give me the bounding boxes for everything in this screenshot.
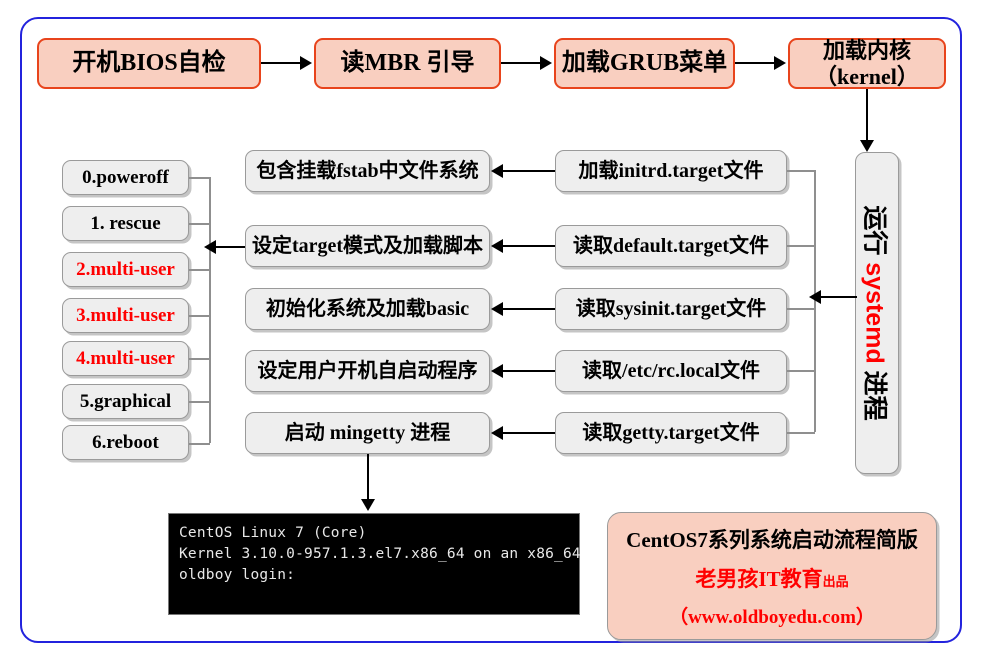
arrow-rclocal-to-autostart-line bbox=[503, 370, 555, 372]
terminal-line-1: CentOS Linux 7 (Core) bbox=[179, 523, 579, 544]
legend-title: CentOS7系列系统启动流程简版 bbox=[626, 524, 918, 554]
target-read-default[interactable]: 读取default.target文件 bbox=[555, 225, 787, 267]
arrow-grub-to-kernel-head bbox=[774, 56, 786, 70]
runlevel-6-reboot[interactable]: 6.reboot bbox=[62, 425, 189, 460]
systemd-highlight: systemd bbox=[861, 262, 889, 363]
action-set-target-mode[interactable]: 设定target模式及加载脚本 bbox=[245, 225, 490, 267]
arrow-target-to-runlevels-head bbox=[204, 240, 216, 254]
boot-step-mbr[interactable]: 读MBR 引导 bbox=[314, 38, 501, 89]
target-read-rclocal[interactable]: 读取/etc/rc.local文件 bbox=[555, 350, 787, 392]
legend-website: （www.oldboyedu.com） bbox=[669, 602, 875, 629]
arrow-sysinit-to-basic-head bbox=[491, 302, 503, 316]
arrow-systemd-to-targets-line bbox=[821, 296, 857, 298]
target-load-initrd[interactable]: 加载initrd.target文件 bbox=[555, 150, 787, 192]
runlevel-1-rescue[interactable]: 1. rescue bbox=[62, 206, 189, 241]
runlevel-4-multi-user[interactable]: 4.multi-user bbox=[62, 341, 189, 376]
systemd-process-box[interactable]: 运行 systemd 进程 bbox=[855, 152, 899, 474]
arrow-initrd-to-fstab-head bbox=[491, 164, 503, 178]
arrow-default-to-target-line bbox=[503, 245, 555, 247]
runlevel-stub-6 bbox=[189, 443, 210, 445]
action-user-autostart[interactable]: 设定用户开机自启动程序 bbox=[245, 350, 490, 392]
arrow-grub-to-kernel-line bbox=[735, 62, 777, 64]
runlevel-stub-5 bbox=[189, 401, 210, 403]
runlevel-bracket-spine bbox=[209, 177, 211, 443]
target-stub-0 bbox=[787, 170, 815, 172]
legend-box: CentOS7系列系统启动流程简版 老男孩IT教育出品 （www.oldboye… bbox=[607, 512, 937, 640]
arrow-kernel-to-systemd-head bbox=[860, 140, 874, 152]
arrow-getty-to-mingetty-head bbox=[491, 426, 503, 440]
runlevel-stub-2 bbox=[189, 269, 210, 271]
arrow-systemd-to-targets-head bbox=[809, 290, 821, 304]
legend-author-suffix: 出品 bbox=[823, 574, 849, 589]
target-read-sysinit[interactable]: 读取sysinit.target文件 bbox=[555, 288, 787, 330]
arrow-bios-to-mbr-head bbox=[300, 56, 312, 70]
runlevel-2-multi-user[interactable]: 2.multi-user bbox=[62, 252, 189, 287]
terminal-output[interactable]: CentOS Linux 7 (Core) Kernel 3.10.0-957.… bbox=[168, 513, 580, 615]
boot-step-grub[interactable]: 加载GRUB菜单 bbox=[554, 38, 735, 89]
terminal-line-2: Kernel 3.10.0-957.1.3.el7.x86_64 on an x… bbox=[179, 544, 579, 565]
arrow-getty-to-mingetty-line bbox=[503, 432, 555, 434]
runlevel-stub-4 bbox=[189, 358, 210, 360]
arrow-bios-to-mbr-line bbox=[261, 62, 303, 64]
arrow-sysinit-to-basic-line bbox=[503, 308, 555, 310]
runlevel-stub-1 bbox=[189, 223, 210, 225]
runlevel-stub-3 bbox=[189, 315, 210, 317]
runlevel-5-graphical[interactable]: 5.graphical bbox=[62, 384, 189, 419]
arrow-initrd-to-fstab-line bbox=[503, 170, 555, 172]
arrow-mbr-to-grub-head bbox=[540, 56, 552, 70]
target-stub-3 bbox=[787, 370, 815, 372]
systemd-process-label: 运行 systemd 进程 bbox=[859, 205, 895, 420]
systemd-prefix: 运行 bbox=[861, 205, 889, 262]
boot-step-kernel[interactable]: 加载内核（kernel） bbox=[788, 38, 946, 89]
arrow-mingetty-to-terminal-head bbox=[361, 499, 375, 511]
diagram-canvas: 开机BIOS自检 读MBR 引导 加载GRUB菜单 加载内核（kernel） 运… bbox=[0, 0, 981, 657]
legend-author-main: 老男孩IT教育 bbox=[695, 567, 822, 591]
arrow-target-to-runlevels-line bbox=[216, 246, 246, 248]
legend-author: 老男孩IT教育出品 bbox=[695, 563, 848, 593]
target-read-getty[interactable]: 读取getty.target文件 bbox=[555, 412, 787, 454]
systemd-suffix: 进程 bbox=[861, 364, 889, 421]
runlevel-stub-0 bbox=[189, 177, 210, 179]
arrow-default-to-target-head bbox=[491, 239, 503, 253]
action-init-basic[interactable]: 初始化系统及加载basic bbox=[245, 288, 490, 330]
target-stub-1 bbox=[787, 245, 815, 247]
arrow-rclocal-to-autostart-head bbox=[491, 364, 503, 378]
action-mount-fstab[interactable]: 包含挂载fstab中文件系统 bbox=[245, 150, 490, 192]
boot-step-bios[interactable]: 开机BIOS自检 bbox=[37, 38, 261, 89]
arrow-mingetty-to-terminal-line bbox=[367, 454, 369, 502]
action-start-mingetty[interactable]: 启动 mingetty 进程 bbox=[245, 412, 490, 454]
arrow-mbr-to-grub-line bbox=[501, 62, 543, 64]
target-stub-2 bbox=[787, 308, 815, 310]
runlevel-0-poweroff[interactable]: 0.poweroff bbox=[62, 160, 189, 195]
runlevel-3-multi-user[interactable]: 3.multi-user bbox=[62, 298, 189, 333]
terminal-line-3: oldboy login: bbox=[179, 565, 579, 586]
target-stub-4 bbox=[787, 432, 815, 434]
arrow-kernel-to-systemd-line bbox=[866, 89, 868, 143]
